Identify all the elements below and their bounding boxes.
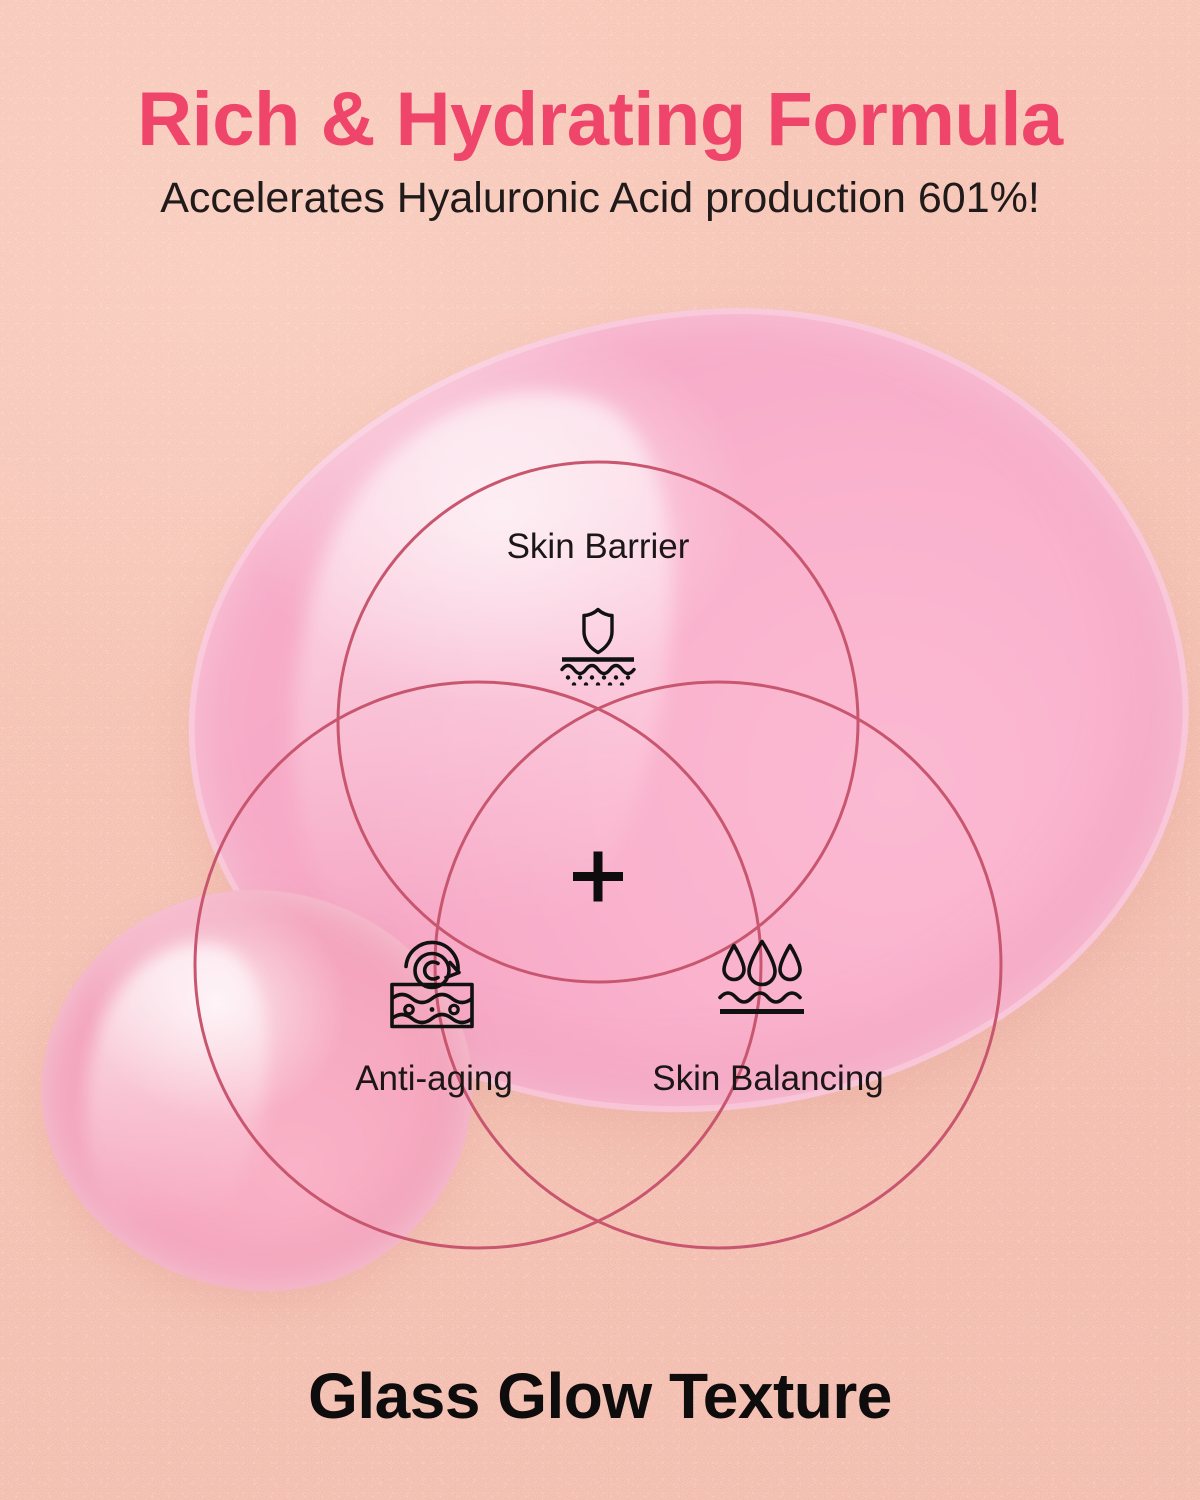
venn-label-anti-aging: Anti-aging [355, 1059, 513, 1099]
anti-aging-collagen-icon [380, 935, 484, 1036]
plus-sign-icon [569, 848, 627, 911]
venn-label-skin-balancing: Skin Balancing [652, 1059, 884, 1099]
marketing-infographic: Rich & Hydrating Formula Accelerates Hya… [0, 0, 1200, 1500]
footer-headline: Glass Glow Texture [0, 1359, 1200, 1433]
venn-diagram [0, 0, 1200, 1500]
skin-balancing-droplets-icon [712, 940, 812, 1027]
venn-label-skin-barrier: Skin Barrier [507, 527, 690, 567]
skin-barrier-shield-icon [548, 602, 648, 691]
